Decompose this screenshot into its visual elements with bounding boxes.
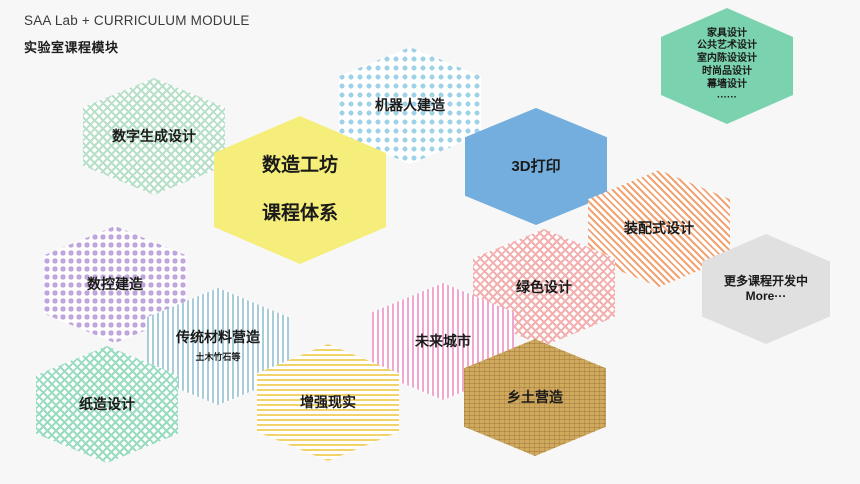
hex-label: 乡土营造 <box>507 389 563 407</box>
hex-label: 家具设计 公共艺术设计 室内陈设设计 时尚品设计 幕墙设计 ······ <box>697 28 757 105</box>
hex-label: 纸造设计 <box>79 396 135 414</box>
hex-label: 数控建造 <box>87 276 143 294</box>
hex-label: 3D打印 <box>511 157 560 176</box>
slide-canvas: SAA Lab + CURRICULUM MODULE 实验室课程模块 数字生成… <box>0 0 860 484</box>
hex-sublabel: 土木竹石等 <box>195 352 240 364</box>
hex-label: 绿色设计 <box>516 279 572 297</box>
hex-node-digital-generative-design[interactable]: 数字生成设计 <box>83 78 225 195</box>
hex-label: 传统材料营造 <box>176 329 260 347</box>
hex-node-furniture-list[interactable]: 家具设计 公共艺术设计 室内陈设设计 时尚品设计 幕墙设计 ······ <box>661 8 793 124</box>
hex-label: 数造工坊 课程体系 <box>262 154 338 227</box>
page-title-cn: 实验室课程模块 <box>24 37 119 56</box>
hex-label: 增强现实 <box>300 394 356 412</box>
hex-label: 更多课程开发中 More··· <box>724 274 808 305</box>
page-title-en: SAA Lab + CURRICULUM MODULE <box>24 13 250 28</box>
hex-label: 机器人建造 <box>375 97 445 115</box>
hex-label: 装配式设计 <box>624 220 694 238</box>
hex-label: 未来城市 <box>415 333 471 351</box>
hex-node-3d-printing[interactable]: 3D打印 <box>465 108 607 225</box>
hex-label: 数字生成设计 <box>112 128 196 146</box>
